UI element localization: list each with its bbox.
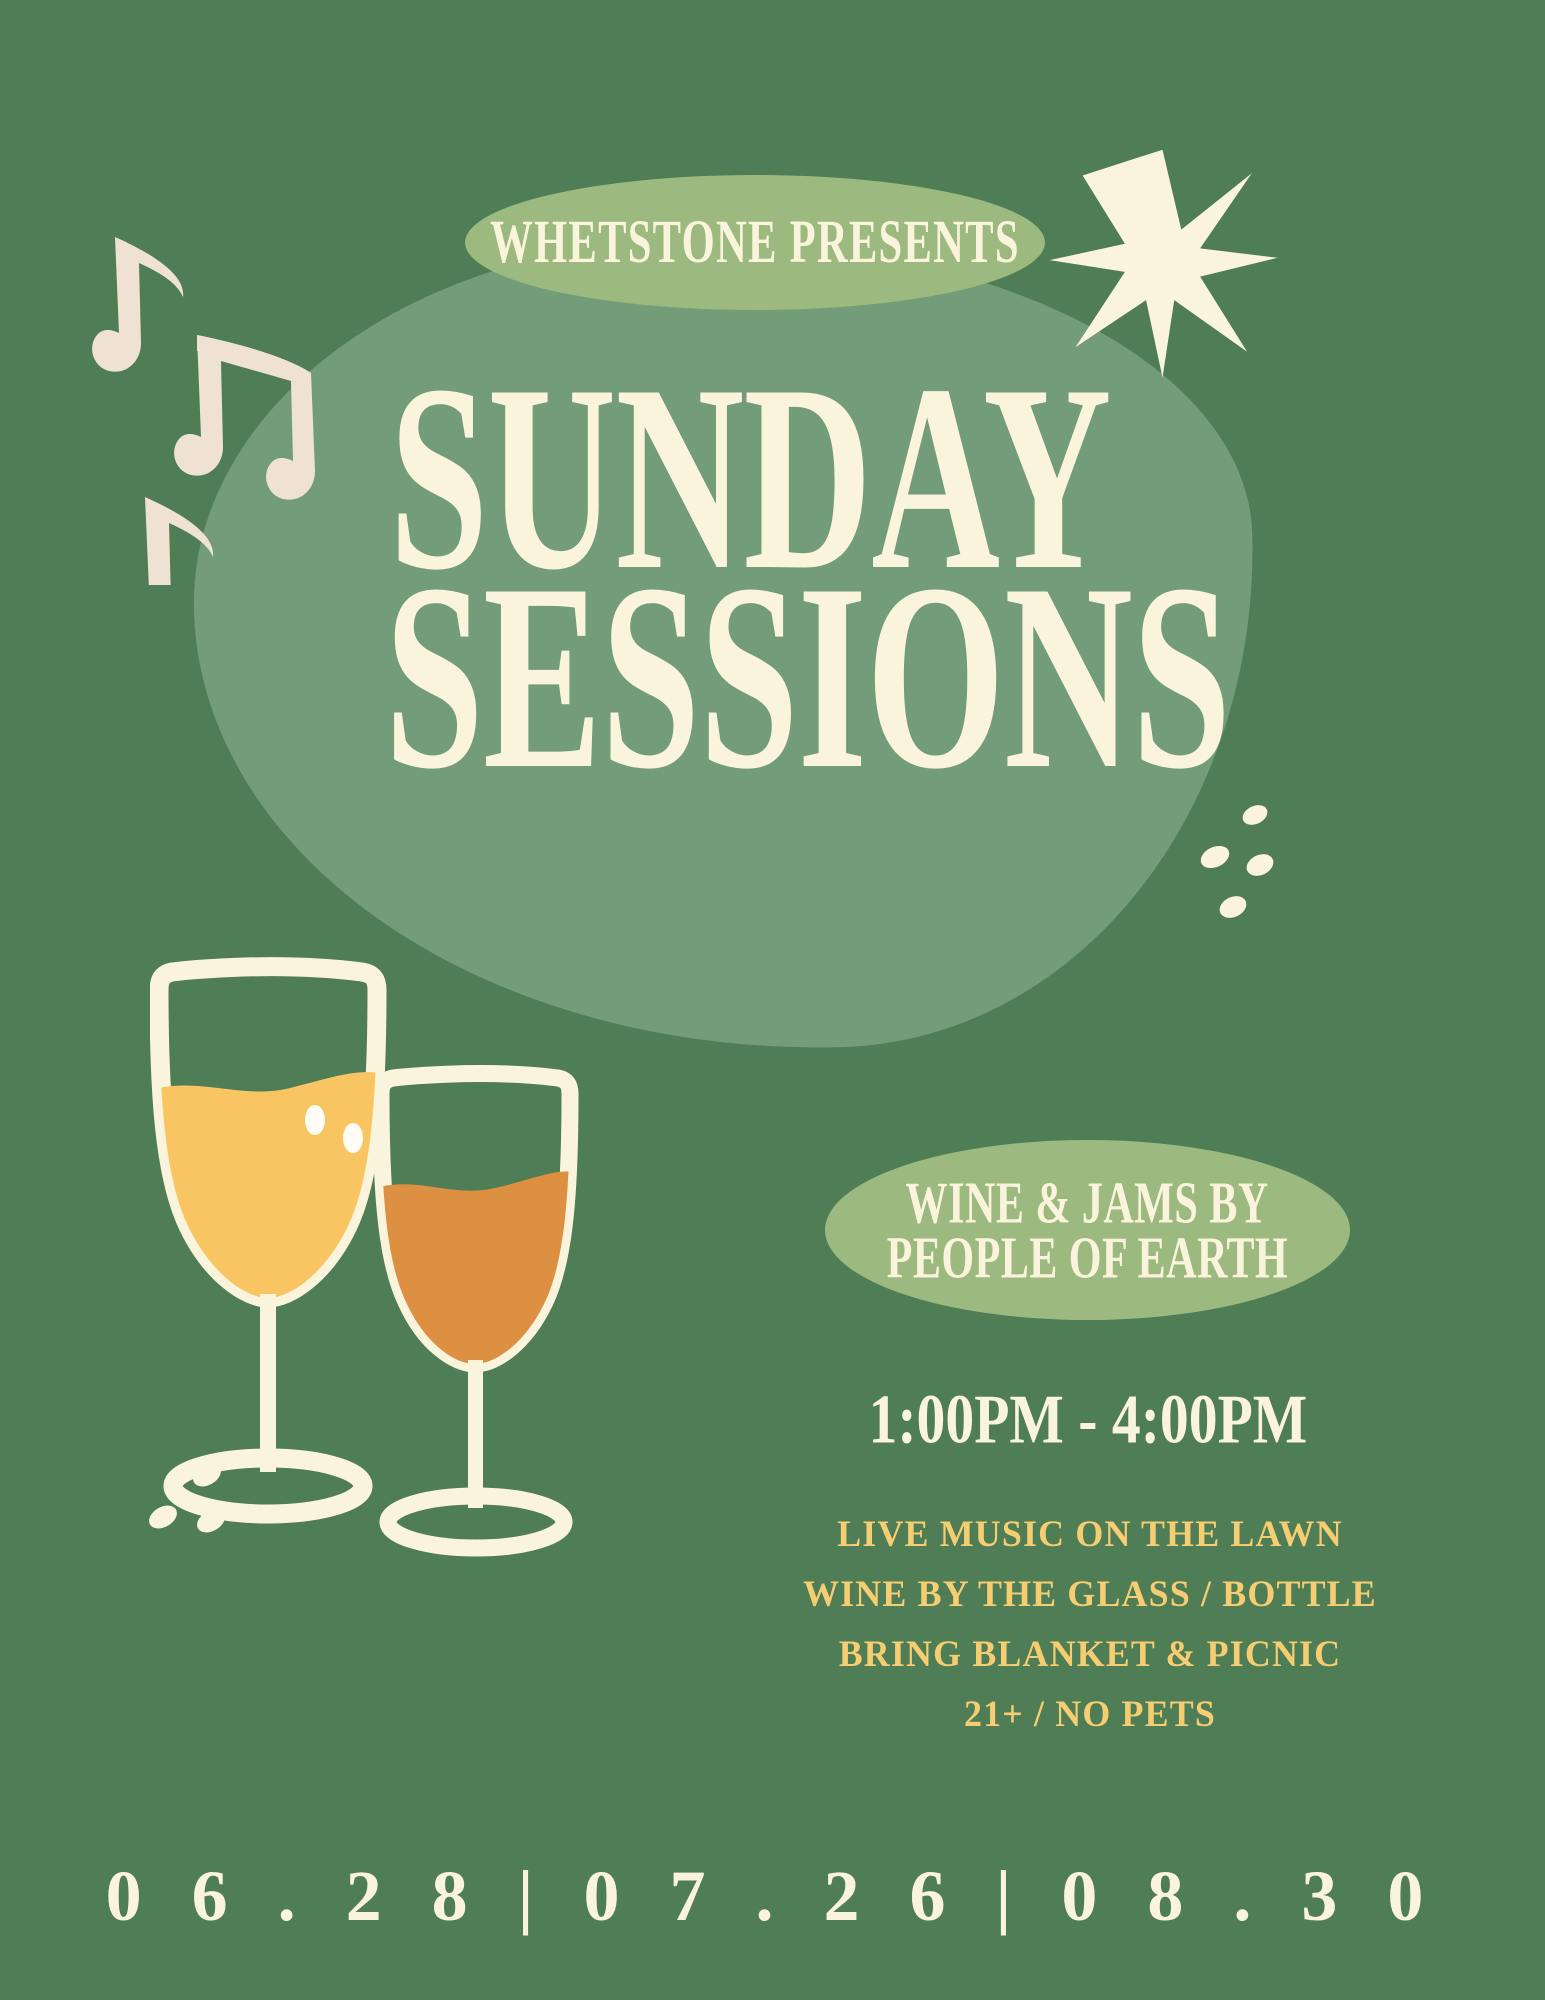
event-details-list: LIVE MUSIC ON THE LAWN WINE BY THE GLASS… (760, 1505, 1420, 1745)
partner-badge-line-2: PEOPLE OF EARTH (887, 1228, 1288, 1288)
partner-badge: WINE & JAMS BY PEOPLE OF EARTH (825, 1140, 1350, 1320)
title-line-2: SESSIONS (385, 571, 1116, 784)
detail-item: BRING BLANKET & PICNIC (770, 1625, 1410, 1685)
event-poster: WHETSTONE PRESENTS SUNDAY SESSIONS (0, 0, 1545, 2000)
two-wine-glasses-icon (150, 930, 680, 1690)
event-time: 1:00PM - 4:00PM (830, 1385, 1345, 1456)
detail-item: WINE BY THE GLASS / BOTTLE (770, 1565, 1410, 1625)
presenter-badge: WHETSTONE PRESENTS (465, 175, 1045, 310)
page-title: SUNDAY SESSIONS (330, 372, 1170, 735)
detail-item: 21+ / NO PETS (770, 1685, 1410, 1745)
event-dates: 0 6 . 2 8 | 0 7 . 2 6 | 0 8 . 3 0 (0, 1855, 1545, 1938)
presenter-badge-label: WHETSTONE PRESENTS (490, 212, 1020, 273)
detail-item: LIVE MUSIC ON THE LAWN (770, 1505, 1410, 1565)
event-time-label: 1:00PM - 4:00PM (868, 1381, 1307, 1461)
event-dates-label: 0 6 . 2 8 | 0 7 . 2 6 | 0 8 . 3 0 (106, 1856, 1440, 1936)
